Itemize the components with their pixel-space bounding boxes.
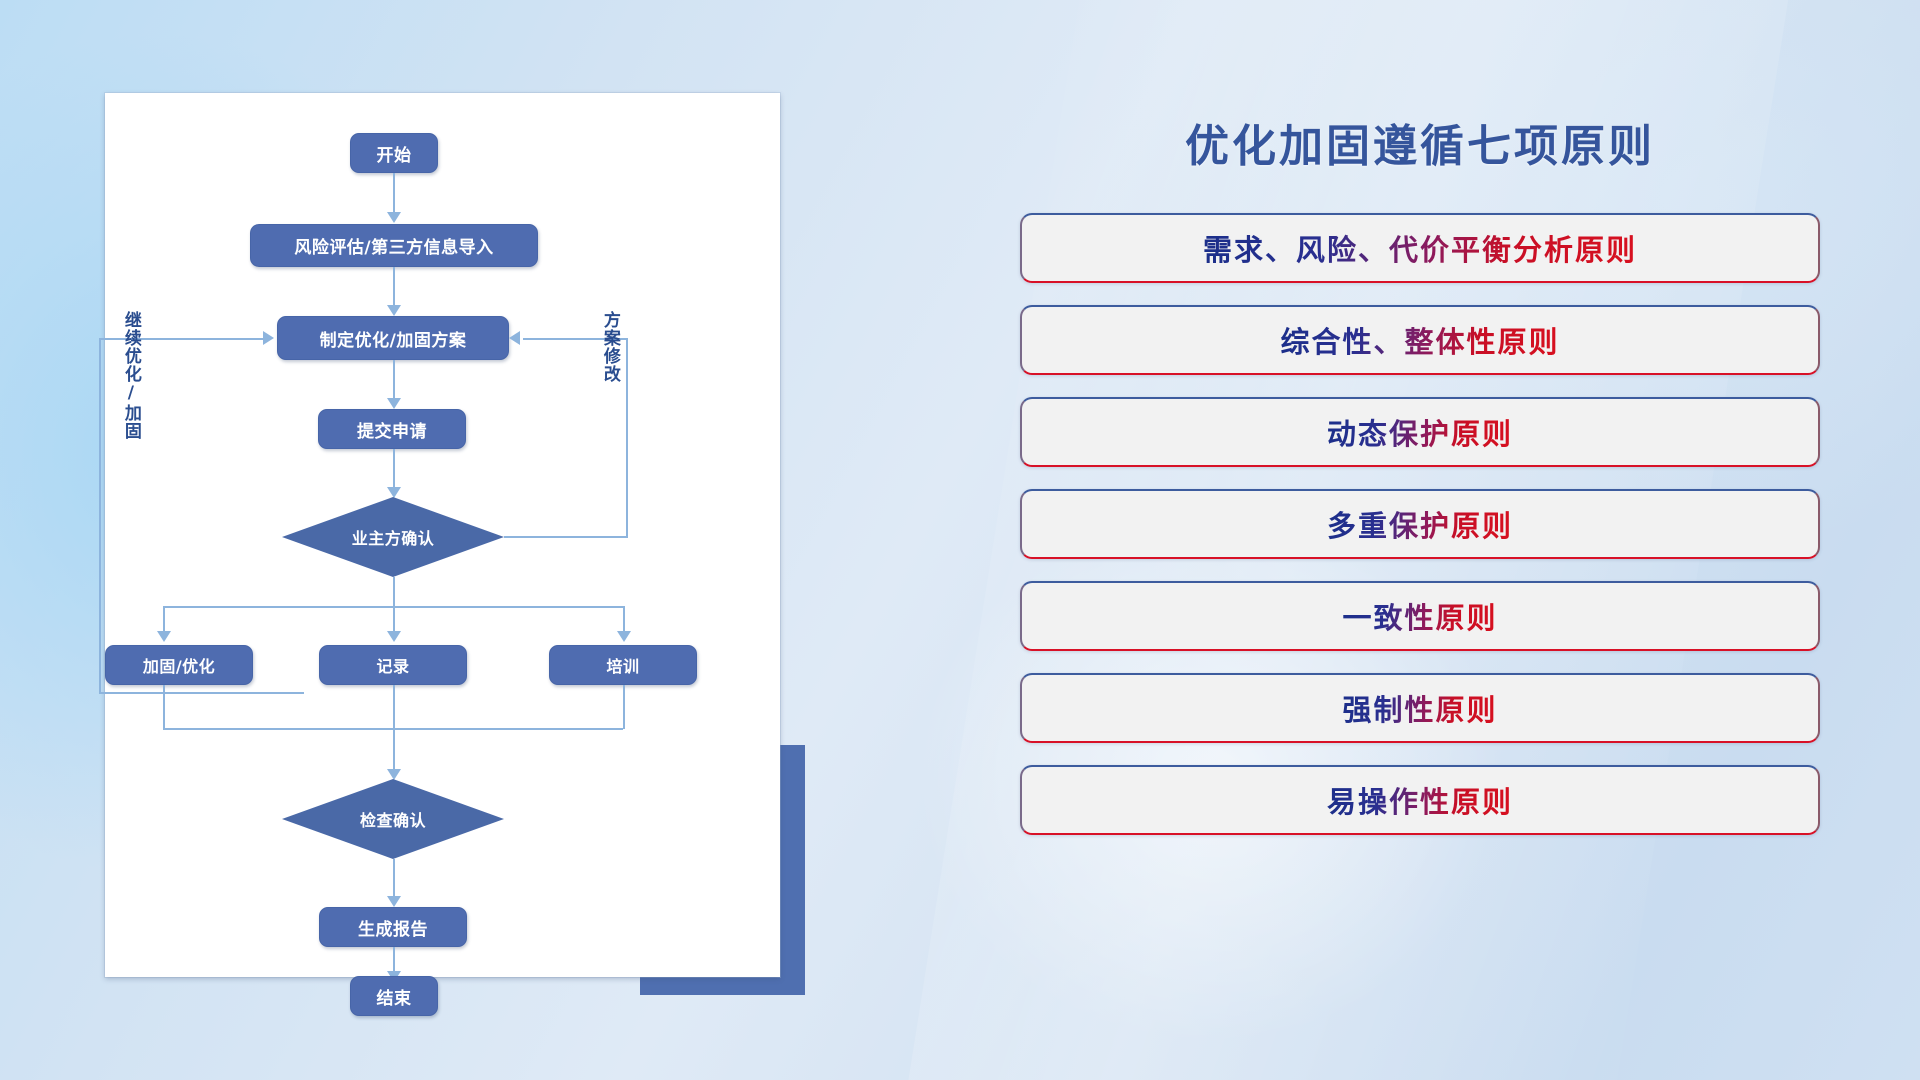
principle-item-5[interactable]: 一致性原则	[1020, 581, 1820, 651]
flow-node-risk-assessment-label: 风险评估/第三方信息导入	[294, 233, 493, 258]
flow-node-record-label: 记录	[376, 653, 409, 677]
principle-item-3-label: 动态保护原则	[1327, 411, 1513, 453]
flow-node-end[interactable]: 结束	[350, 976, 438, 1016]
flow-node-start-label: 开始	[377, 141, 412, 166]
flow-node-record[interactable]: 记录	[319, 645, 467, 685]
connector-record-down	[393, 685, 395, 729]
principle-item-3[interactable]: 动态保护原则	[1020, 397, 1820, 467]
flow-node-training-label: 培训	[606, 653, 639, 677]
flowchart-card: 开始 风险评估/第三方信息导入 制定优化/加固方案 提交申请 业主方确认	[105, 93, 780, 977]
flow-node-training[interactable]: 培训	[549, 645, 697, 685]
principle-item-2-label: 综合性、整体性原则	[1280, 319, 1559, 361]
connector-right-loop-from-owner	[504, 536, 628, 538]
principle-item-6-label: 强制性原则	[1342, 687, 1497, 729]
principle-item-4-label: 多重保护原则	[1327, 503, 1513, 545]
principle-item-2[interactable]: 综合性、整体性原则	[1020, 305, 1820, 375]
principle-item-7[interactable]: 易操作性原则	[1020, 765, 1820, 835]
principle-item-4[interactable]: 多重保护原则	[1020, 489, 1820, 559]
arrowhead-start-to-risk	[387, 212, 401, 223]
arrowhead-risk-to-plan	[387, 305, 401, 316]
principles-list: 需求、风险、代价平衡分析原则 综合性、整体性原则 动态保护原则 多重保护原则 一…	[1020, 213, 1820, 857]
flow-node-make-plan-label: 制定优化/加固方案	[320, 326, 467, 351]
arrowhead-plan-to-submit	[387, 398, 401, 409]
connector-reinforce-down	[163, 685, 165, 729]
flow-decision-owner-confirm-label: 业主方确认	[352, 525, 435, 549]
flow-node-generate-report[interactable]: 生成报告	[319, 907, 467, 947]
flow-decision-inspection-confirm[interactable]: 检查确认	[282, 779, 504, 859]
flow-decision-owner-confirm[interactable]: 业主方确认	[282, 497, 504, 577]
flow-node-end-label: 结束	[377, 984, 412, 1009]
arrowhead-check-to-report	[387, 896, 401, 907]
connector-training-down	[623, 685, 625, 729]
connector-owner-down	[393, 577, 395, 607]
principle-item-5-label: 一致性原则	[1342, 595, 1497, 637]
principle-item-7-label: 易操作性原则	[1327, 779, 1513, 821]
flow-node-submit-application[interactable]: 提交申请	[318, 409, 466, 449]
connector-left-loop-bottom	[99, 692, 304, 694]
flow-node-risk-assessment[interactable]: 风险评估/第三方信息导入	[250, 224, 538, 267]
arrowhead-to-training	[617, 631, 631, 642]
flow-node-reinforce-optimize-label: 加固/优化	[143, 653, 215, 677]
flow-edge-label-plan-revision: 方案修改	[600, 311, 618, 431]
flow-node-submit-application-label: 提交申请	[357, 417, 427, 442]
arrowhead-to-record	[387, 631, 401, 642]
flowchart-canvas: 开始 风险评估/第三方信息导入 制定优化/加固方案 提交申请 业主方确认	[105, 93, 780, 977]
panel-title: 优化加固遵循七项原则	[1020, 110, 1820, 174]
flow-node-make-plan[interactable]: 制定优化/加固方案	[277, 316, 509, 360]
principle-item-1[interactable]: 需求、风险、代价平衡分析原则	[1020, 213, 1820, 283]
flow-edge-label-continue-optimize: 继续优化/加固	[121, 311, 139, 461]
flow-decision-inspection-confirm-label: 检查确认	[360, 807, 426, 831]
principles-panel: 优化加固遵循七项原则 需求、风险、代价平衡分析原则 综合性、整体性原则 动态保护…	[1020, 95, 1860, 995]
arrowhead-left-loop-to-plan	[263, 331, 274, 345]
arrowhead-right-loop-to-plan	[509, 331, 520, 345]
flow-node-start[interactable]: 开始	[350, 133, 438, 173]
principle-item-1-label: 需求、风险、代价平衡分析原则	[1203, 227, 1637, 269]
principle-item-6[interactable]: 强制性原则	[1020, 673, 1820, 743]
arrowhead-to-reinforce	[157, 631, 171, 642]
connector-left-loop-vertical	[99, 338, 101, 693]
flow-node-reinforce-optimize[interactable]: 加固/优化	[105, 645, 253, 685]
flow-node-generate-report-label: 生成报告	[358, 915, 428, 940]
connector-right-loop-vertical	[626, 338, 628, 538]
